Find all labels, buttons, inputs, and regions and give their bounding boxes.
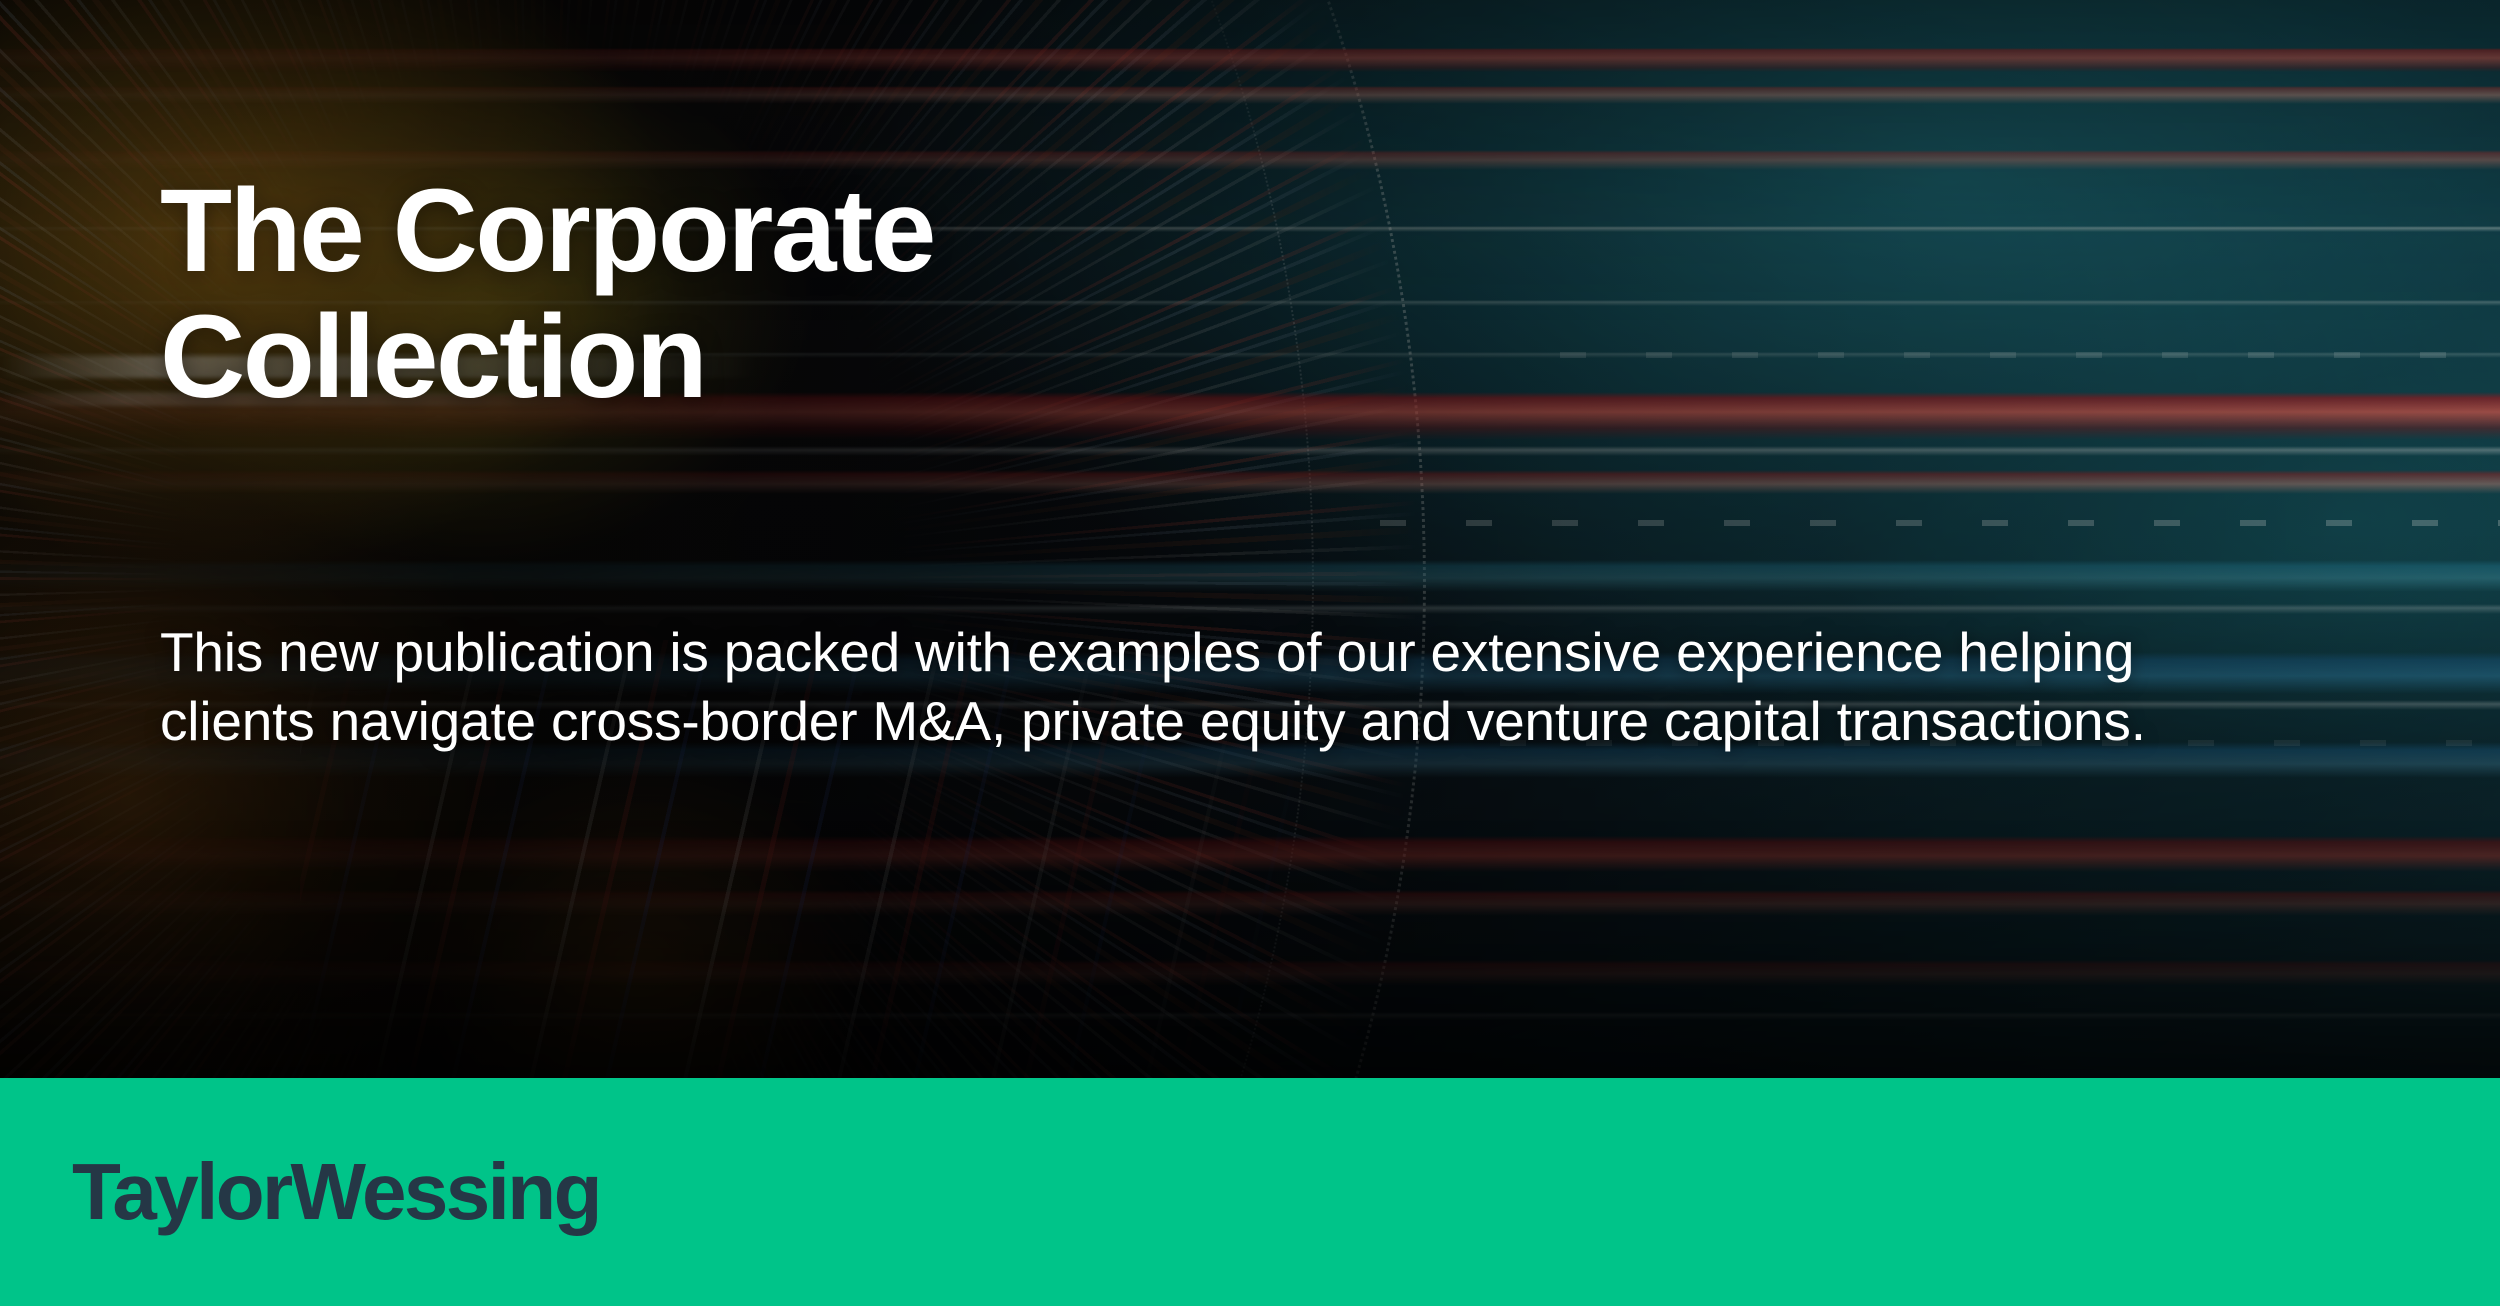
hero-subheading: This new publication is packed with exam… [160,618,2260,756]
taylor-wessing-logo: TaylorWessing [72,1152,600,1232]
hero-content: The Corporate Collection This new public… [160,0,2440,1078]
hero-banner: The Corporate Collection This new public… [0,0,2500,1306]
footer-bar: TaylorWessing [0,1078,2500,1306]
page-title: The Corporate Collection [160,168,934,421]
